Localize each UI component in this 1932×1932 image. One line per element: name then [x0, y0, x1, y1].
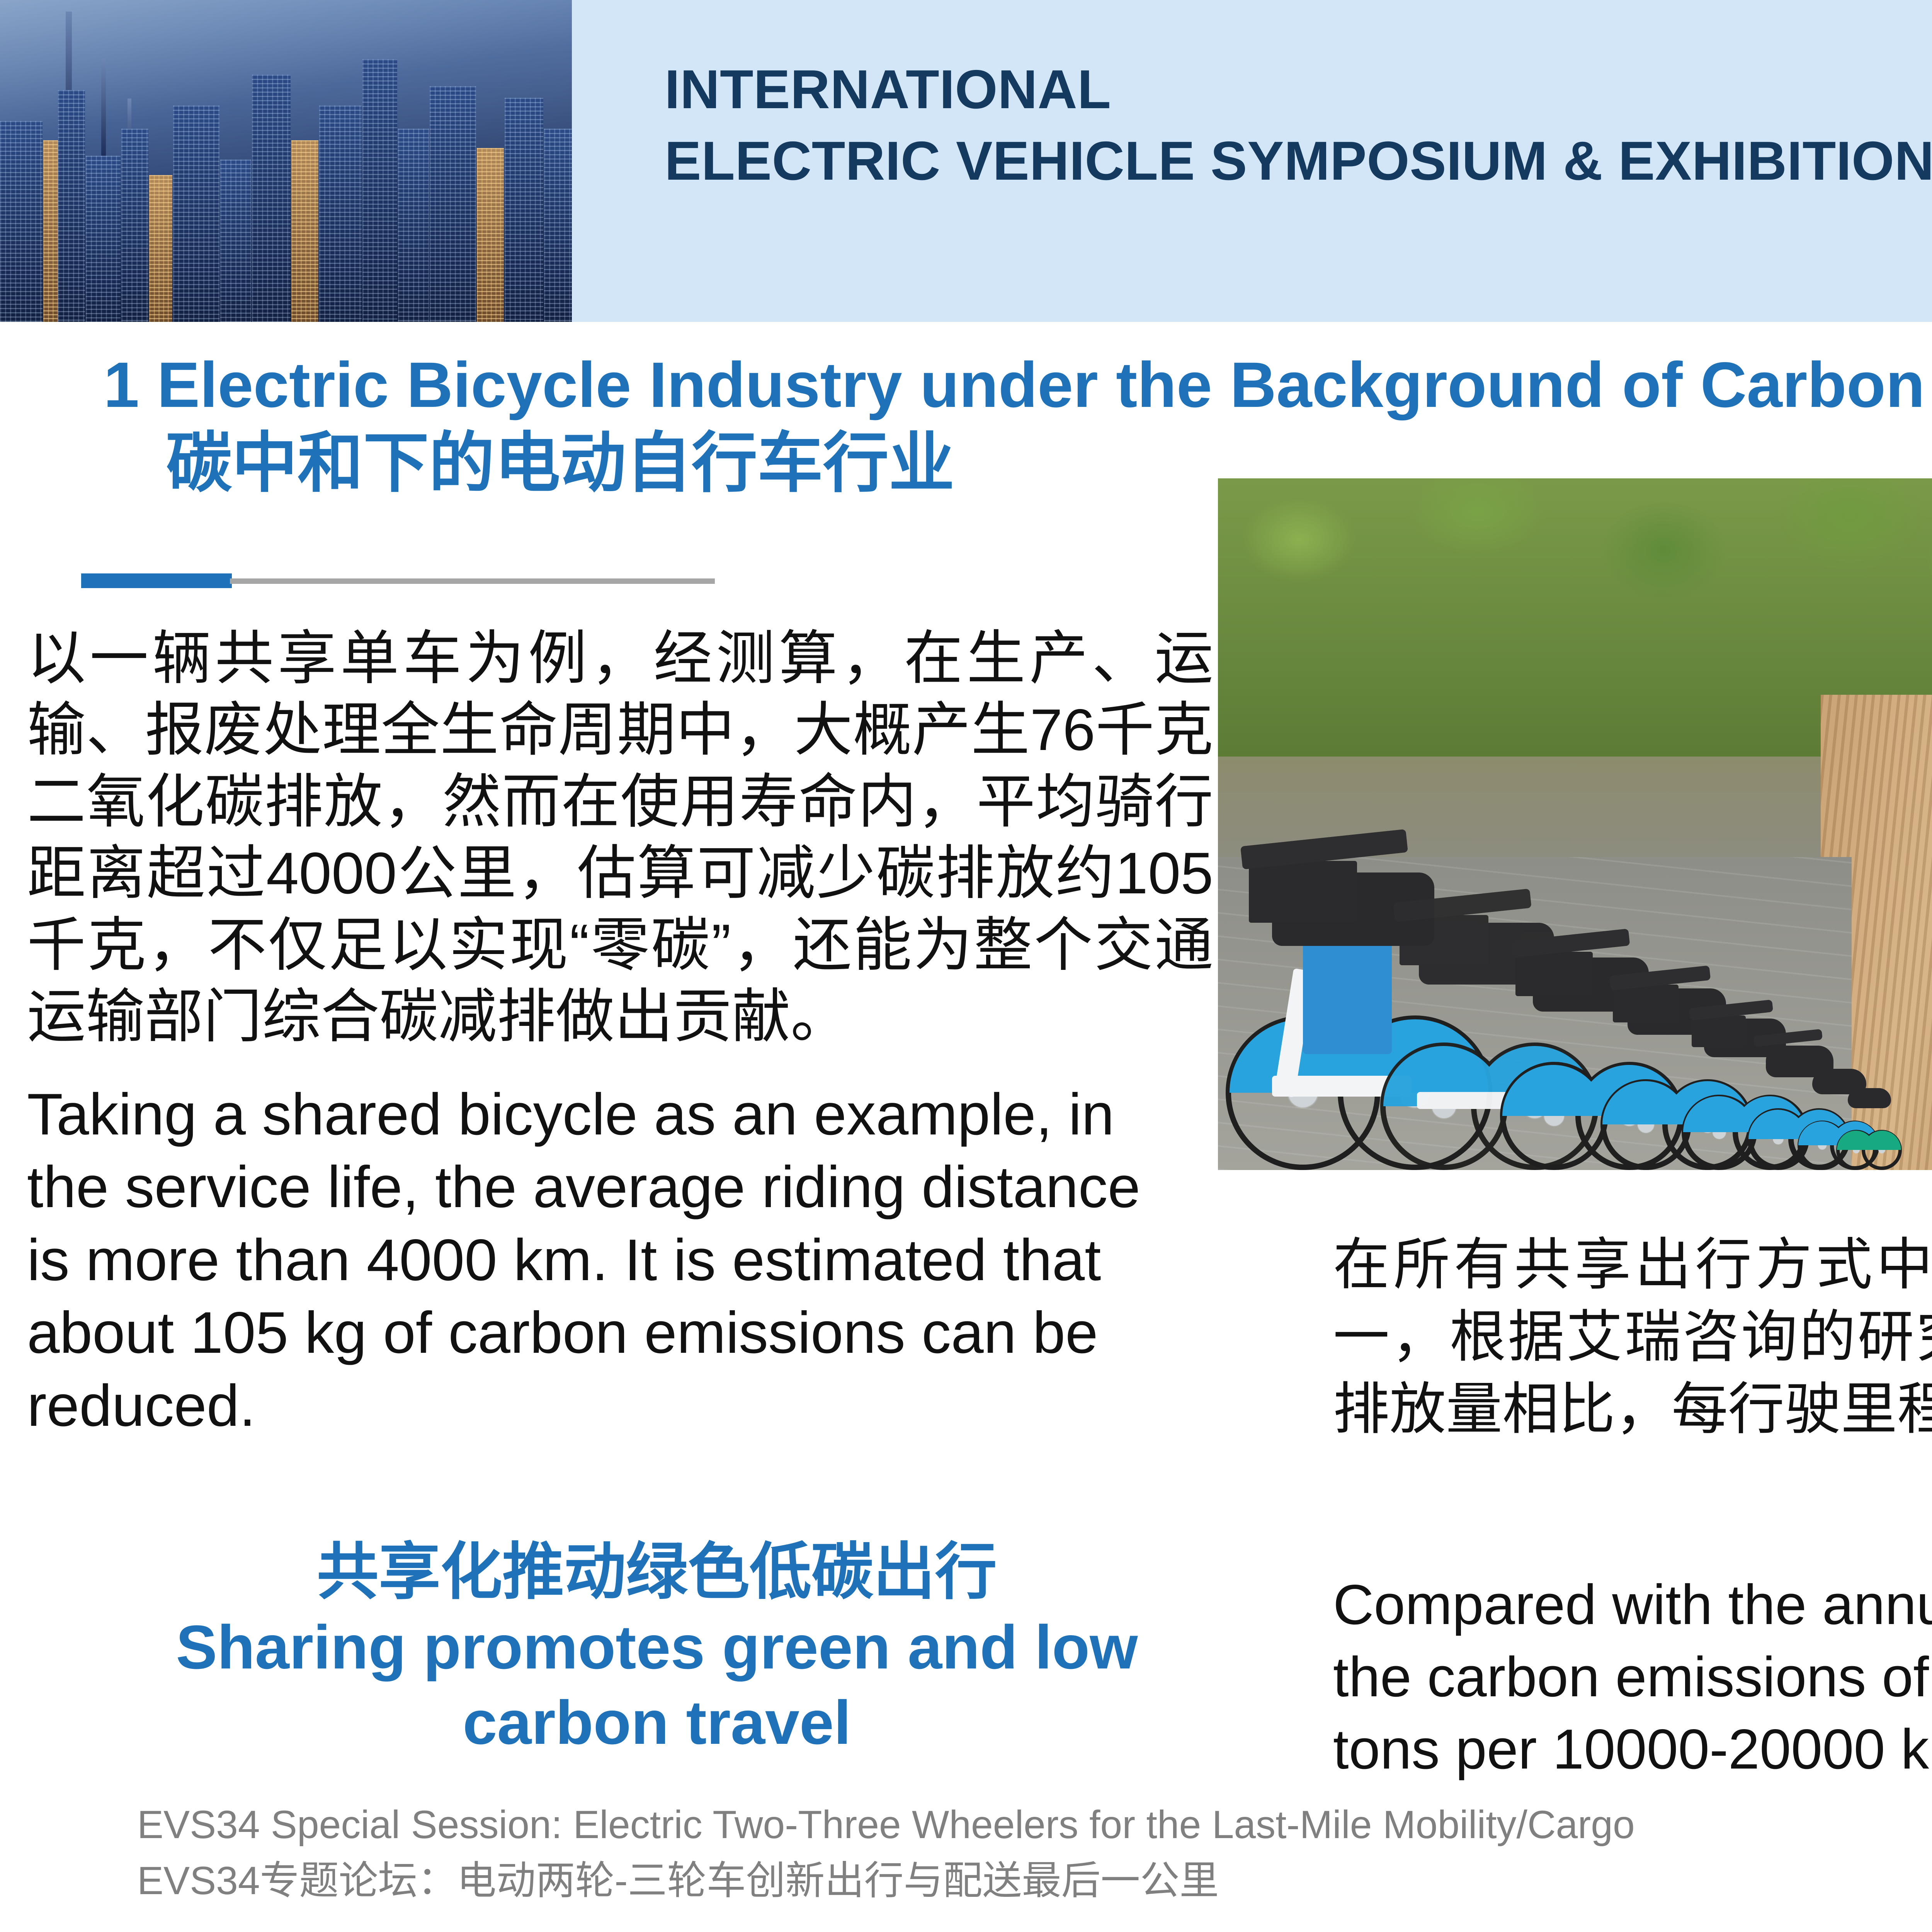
header-title-line-2: ELECTRIC VEHICLE SYMPOSIUM & EXHIBITION	[665, 126, 1932, 197]
presentation-slide: INTERNATIONAL ELECTRIC VEHICLE SYMPOSIUM…	[0, 0, 1932, 1932]
bicycle-green	[1836, 1073, 1894, 1170]
highlight-english: Sharing promotes green and low carbon tr…	[89, 1609, 1225, 1760]
highlight-callout: 共享化推动绿色低碳出行 Sharing promotes green and l…	[89, 1534, 1225, 1760]
highlight-chinese: 共享化推动绿色低碳出行	[89, 1534, 1225, 1609]
left-paragraph-english: Taking a shared bicycle as an example, i…	[27, 1078, 1194, 1442]
divider-grey-line	[230, 578, 715, 584]
title-divider	[81, 573, 738, 589]
footer-line-english: EVS34 Special Session: Electric Two-Thre…	[137, 1797, 1932, 1853]
right-bottom-english: Compared with the annual emissions of ga…	[1333, 1569, 1932, 1786]
header-title-line-1: INTERNATIONAL	[665, 54, 1932, 126]
city-skyline-photo	[0, 0, 572, 322]
slide-title-english: 1 Electric Bicycle Industry under the Ba…	[104, 352, 1932, 419]
right-bottom-chinese: 在所有共享出行方式中，共享电单车服务是最为环保的解决方案之一，根据艾瑞咨询的研究…	[1333, 1229, 1932, 1446]
slide-header-band: INTERNATIONAL ELECTRIC VEHICLE SYMPOSIUM…	[0, 0, 1932, 322]
left-paragraph-chinese: 以一辆共享单车为例，经测算，在生产、运输、报废处理全生命周期中，大概产生76千克…	[27, 623, 1213, 1053]
shared-ebike-photo	[1218, 478, 1932, 1170]
footer-line-chinese: EVS34专题论坛：电动两轮-三轮车创新出行与配送最后一公里	[137, 1853, 1932, 1909]
slide-footer: EVS34 Special Session: Electric Two-Thre…	[137, 1797, 1932, 1909]
conference-title: INTERNATIONAL ELECTRIC VEHICLE SYMPOSIUM…	[665, 54, 1932, 197]
divider-blue-bar	[81, 573, 232, 588]
